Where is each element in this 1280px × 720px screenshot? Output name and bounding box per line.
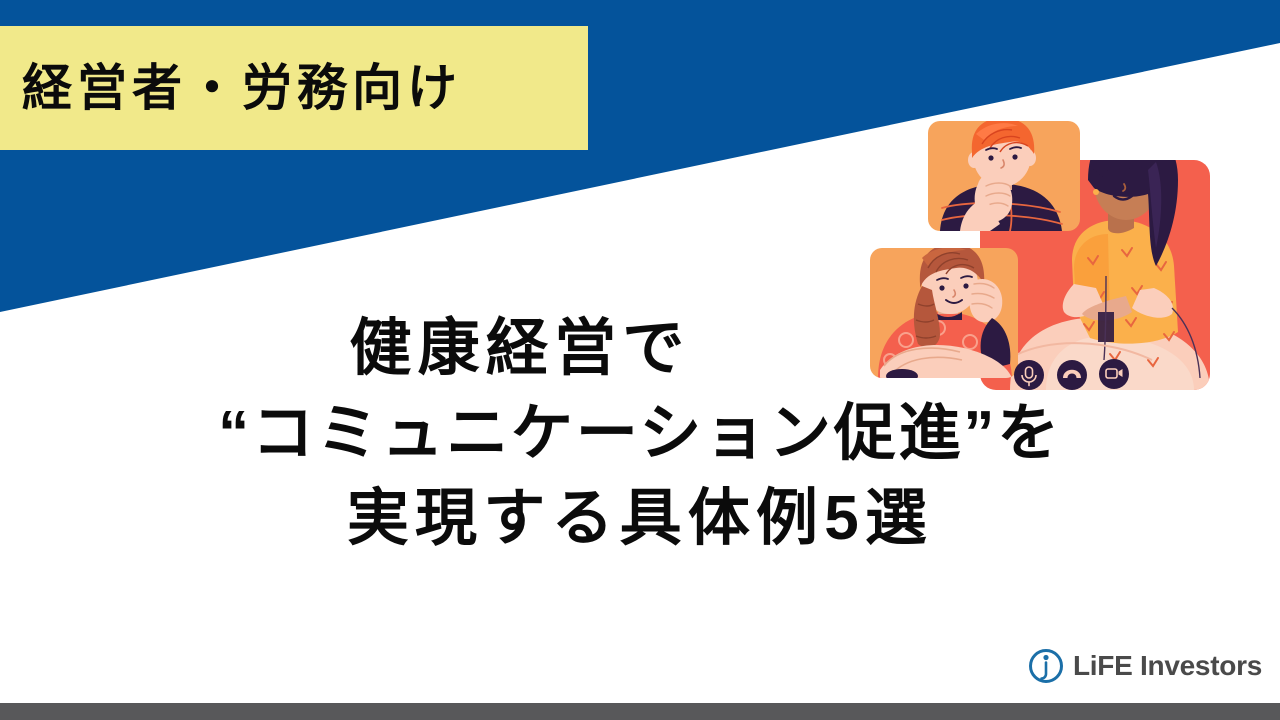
slide-root: 経営者・労務向け [0, 0, 1280, 720]
brand-logo-text: LiFE Investors [1073, 650, 1262, 682]
headline-line-3: 実現する具体例5選 [0, 488, 1280, 550]
brand-logo: LiFE Investors [1028, 648, 1262, 684]
bottom-bar [0, 703, 1280, 720]
headline-line-2: “コミュニケーション促進”を [0, 403, 1280, 488]
audience-badge: 経営者・労務向け [0, 26, 588, 150]
life-investors-mark-icon [1028, 648, 1064, 684]
audience-badge-label: 経営者・労務向け [0, 63, 462, 113]
headline-line-1: 健康経営で [0, 318, 1160, 403]
page-title: 健康経営で “コミュニケーション促進”を 実現する具体例5選 [0, 318, 1280, 550]
panel-top-person [928, 118, 1080, 231]
